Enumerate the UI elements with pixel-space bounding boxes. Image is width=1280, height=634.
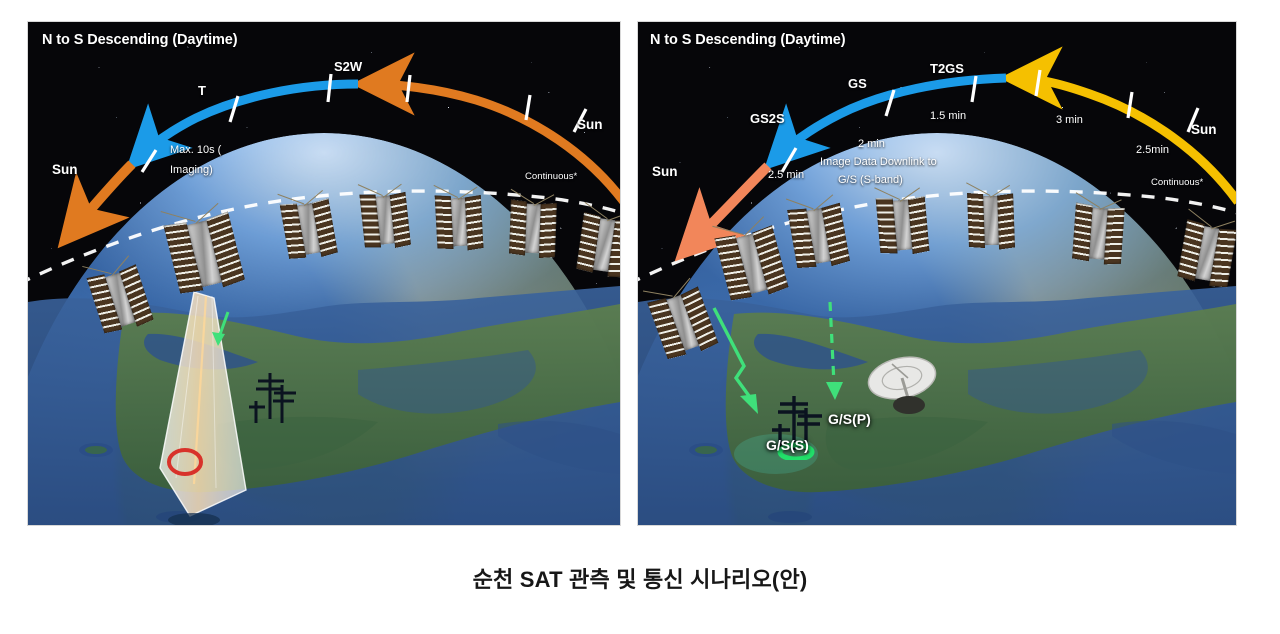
satellite-icon — [963, 181, 1020, 257]
label-imaging: Imaging) — [170, 164, 213, 176]
label-downlink-line2: G/S (S-band) — [838, 174, 903, 186]
satellite-icon — [1067, 192, 1128, 272]
label-continuous: Continuous* — [525, 172, 577, 183]
arrow-tick-marks — [142, 74, 586, 172]
figure-caption: 순천 SAT 관측 및 통신 시나리오(안) — [0, 562, 1280, 594]
label-continuous: Continuous* — [1151, 178, 1203, 189]
label-gs-s: G/S(S) — [766, 438, 809, 454]
satellite-icon — [354, 179, 415, 256]
label-25min-b: 2.5min — [1136, 144, 1169, 156]
label-sun-right: Sun — [577, 117, 603, 132]
label-max-10s: Max. 10s ( — [170, 144, 221, 156]
satellite-icon — [430, 183, 488, 258]
diagram-panel-right: N to S Descending (Daytime) Sun GS2S GS … — [638, 22, 1236, 525]
diagram-panel-left: N to S Descending (Daytime) Sun T S2W Su… — [28, 22, 620, 525]
label-sun-left: Sun — [52, 162, 78, 177]
satellite-icon — [505, 189, 562, 265]
label-sun-right: Sun — [1191, 122, 1217, 137]
label-25min-a: 2.5 min — [768, 169, 804, 181]
label-3min: 3 min — [1056, 114, 1083, 126]
label-gs-p: G/S(P) — [828, 412, 871, 428]
label-s2w: S2W — [334, 60, 362, 75]
label-downlink-line1: Image Data Downlink to — [820, 156, 937, 168]
panel-title: N to S Descending (Daytime) — [650, 32, 846, 48]
satellite-icon — [871, 184, 933, 265]
panel-title: N to S Descending (Daytime) — [42, 32, 238, 48]
label-gs: GS — [848, 77, 867, 92]
arrow-gs — [774, 78, 1006, 160]
label-t2gs: T2GS — [930, 62, 964, 77]
label-15min: 1.5 min — [930, 110, 966, 122]
label-t: T — [198, 84, 206, 99]
figure-canvas: N to S Descending (Daytime) Sun T S2W Su… — [0, 0, 1280, 634]
label-gs2s: GS2S — [750, 112, 785, 127]
label-2min: 2 min — [858, 138, 885, 150]
label-sun-left: Sun — [652, 164, 678, 179]
